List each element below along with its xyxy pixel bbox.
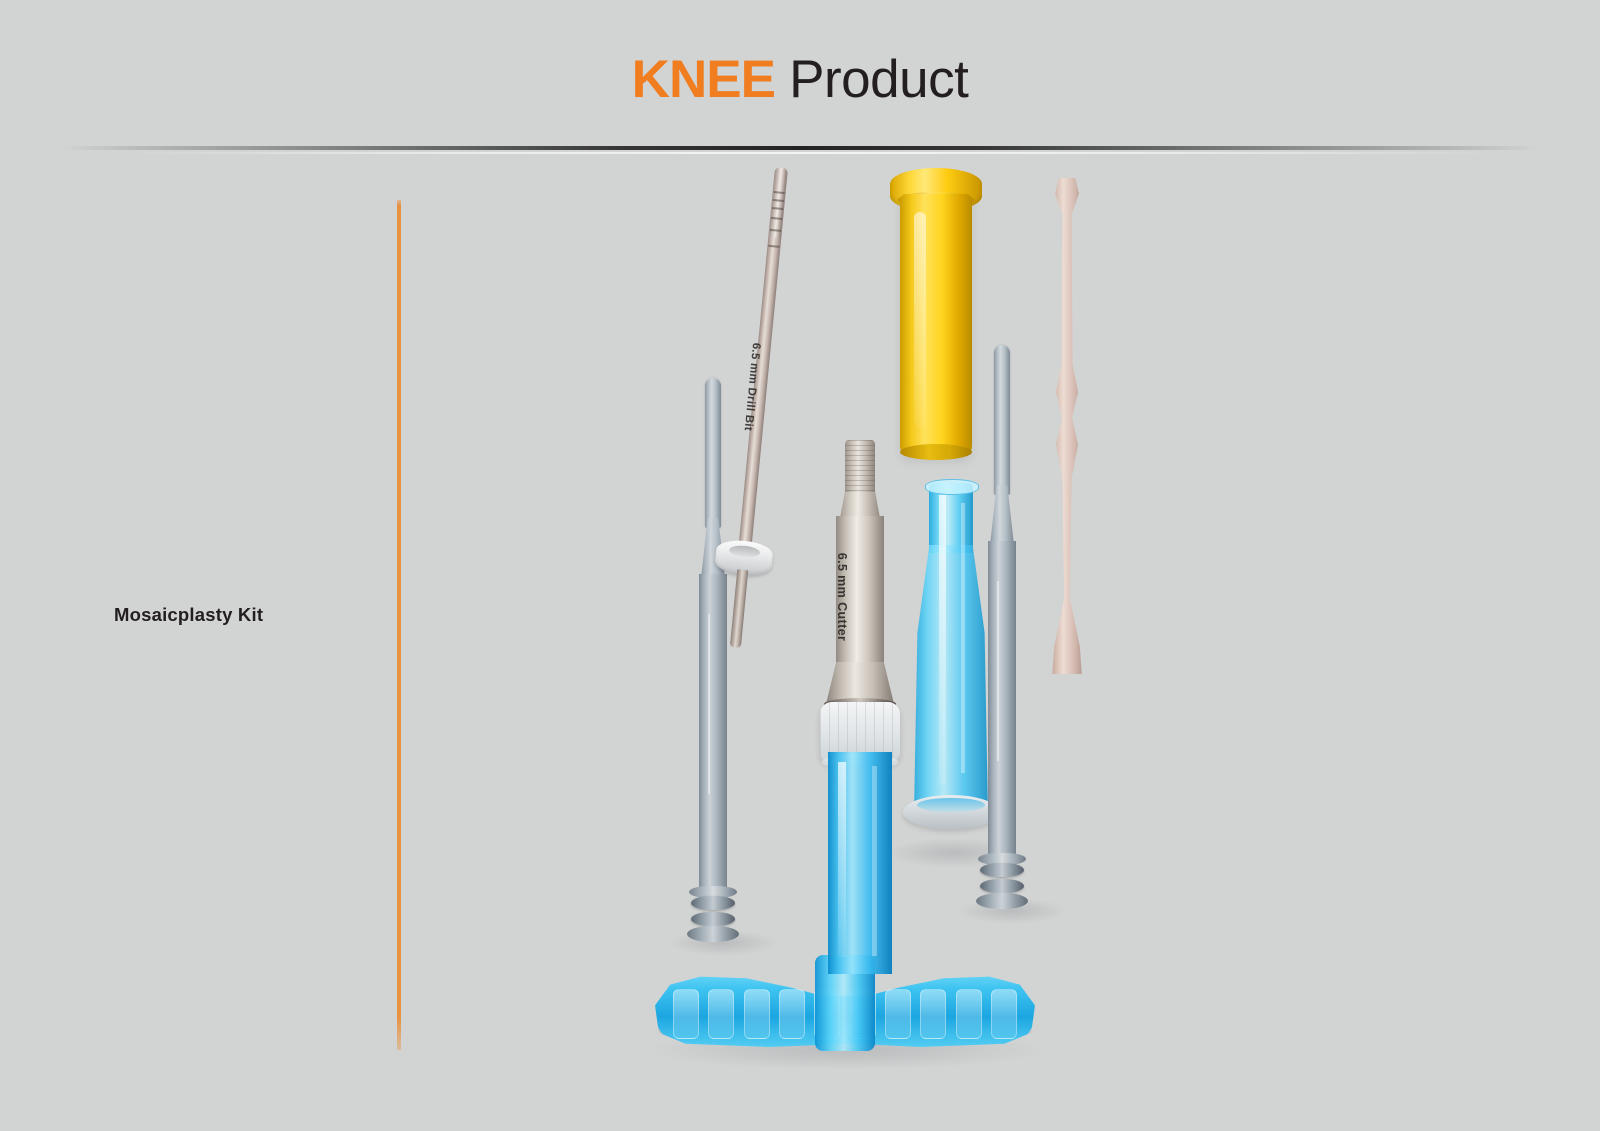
product-sheet: KNEE Product Mosaicplasty Kit [0,0,1600,1131]
rose-tamp-bulb-lower [1044,416,1090,478]
cutter-label: 6.5 mm Cutter [835,527,849,667]
rose-tamp-head [1044,178,1090,212]
tamp-shaft [988,541,1016,861]
drill-lower-shaft [730,569,748,648]
funnel-body [911,545,991,803]
harvester-cutter: 6.5 mm Cutter [812,440,908,1060]
tamp-ring-lower [980,879,1024,893]
rose-tamp-midshaft [1044,474,1090,604]
rose-tamp-bulb-upper [1044,364,1090,420]
tamp-tip [705,378,721,528]
blue-funnel-sleeve [903,483,999,858]
rose-gold-tamp [1044,178,1090,678]
tamp-ring-upper [691,896,735,910]
tamp-foot [976,893,1028,909]
funnel-highlight-secondary [961,503,965,773]
tamp-ring-lower [691,912,735,926]
yellow-tube-base [900,444,972,460]
yellow-tube-cap [890,168,982,463]
tamp-foot [687,926,739,942]
funnel-base-collar [903,795,999,829]
cutter-blue-shaft [828,752,892,974]
funnel-rim [925,479,979,495]
drill-bit: 6.5 mm Drill Bit [709,165,815,649]
cutter-knurled-top [845,440,875,498]
yellow-tube-body [900,194,972,456]
funnel-highlight [939,495,946,785]
tamp-ring-upper [980,863,1024,877]
cutter-shoulder [840,492,880,518]
rose-tamp-foot [1044,598,1090,674]
product-image: 6.5 mm Drill Bit [0,0,1600,1131]
tamp-tip [994,345,1010,495]
rose-tamp-neck [1044,208,1090,368]
